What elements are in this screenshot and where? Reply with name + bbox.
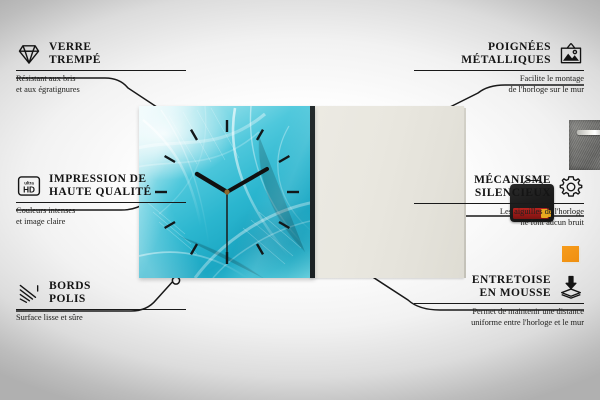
feature-title-line1: ENTRETOISE [472, 274, 551, 286]
minute-hand [227, 169, 267, 192]
hanger-slot [577, 130, 600, 135]
feature-desc-line1: Résistant aux bris [16, 74, 76, 83]
feature-desc-line1: Facilite le montage [520, 74, 584, 83]
feature-title-line2: MÉTALLIQUES [461, 54, 551, 66]
feature-title-line1: BORDS [49, 280, 91, 292]
feature-title-line1: VERRE [49, 41, 92, 53]
feature-title-line2: EN MOUSSE [480, 287, 551, 299]
feature-poignees-metalliques: POIGNÉESMÉTALLIQUES Facilite le montaged… [414, 41, 584, 95]
feature-entretoise-en-mousse: ENTRETOISEEN MOUSSE Permet de maintenir … [414, 274, 584, 328]
feature-desc-line2: et aux égratignures [16, 85, 80, 94]
feature-title-line2: HAUTE QUALITÉ [49, 186, 152, 198]
feature-title-line1: POIGNÉES [488, 41, 551, 53]
feature-rule [414, 203, 584, 204]
feature-rule [16, 70, 186, 71]
feature-desc-line1: Couleurs intenses [16, 206, 75, 215]
polished-edges-icon [16, 280, 42, 306]
feature-desc-line1: Permet de maintenir une distance [472, 307, 584, 316]
foam-spacer [562, 246, 579, 262]
feature-rule [16, 309, 186, 310]
feature-title-line2: TREMPÉ [49, 54, 101, 66]
feature-title-line2: SILENCIEUX [475, 187, 551, 199]
feature-title-line2: POLIS [49, 293, 86, 305]
feature-verre-trempe: VERRETREMPÉ Résistant aux briset aux égr… [16, 41, 186, 95]
foam-spacer-icon [558, 274, 584, 300]
feature-bords-polis: BORDSPOLIS Surface lisse et sûre [16, 280, 186, 324]
gear-icon [558, 174, 584, 200]
feature-rule [414, 303, 584, 304]
feature-desc-line2: ne font aucun bruit [521, 218, 585, 227]
ultra-hd-icon-main-text: HD [23, 186, 35, 195]
diamond-icon [16, 41, 42, 67]
feature-rule [414, 70, 584, 71]
hour-hand [197, 174, 227, 192]
clock-center-cap [224, 189, 229, 194]
feature-mecanisme-silencieux: MÉCANISMESILENCIEUX Les aiguilles de l'h… [414, 174, 584, 228]
feature-desc-line2: de l'horloge sur le mur [509, 85, 584, 94]
infographic-canvas: VERRETREMPÉ Résistant aux briset aux égr… [0, 0, 600, 400]
feature-title-line1: MÉCANISME [474, 174, 551, 186]
feature-rule [16, 202, 186, 203]
hanging-frame-icon [558, 41, 584, 67]
ultra-hd-icon: ultra HD [16, 173, 42, 199]
feature-desc-line1: Surface lisse et sûre [16, 313, 83, 322]
feature-desc-line1: Les aiguilles de l'horloge [500, 207, 584, 216]
feature-desc-line2: uniforme entre l'horloge et le mur [471, 318, 584, 327]
metal-hanger-plate [569, 120, 600, 170]
feature-impression-haute-qualite: ultra HD IMPRESSION DEHAUTE QUALITÉ Coul… [16, 173, 186, 227]
feature-title-line1: IMPRESSION DE [49, 173, 147, 185]
feature-desc-line2: et image claire [16, 217, 65, 226]
